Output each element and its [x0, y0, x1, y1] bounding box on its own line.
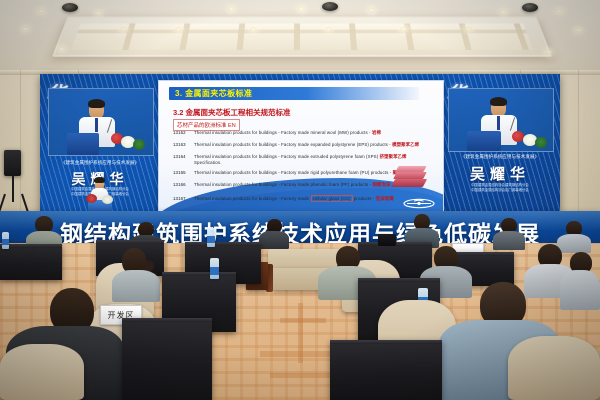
live-podium-inset-left	[78, 160, 122, 214]
bottle-label	[207, 236, 215, 243]
downlight-icon	[175, 27, 182, 31]
downlight-icon	[368, 8, 375, 12]
slide-row-code: 13163	[173, 142, 194, 148]
flower-arrangement	[535, 137, 547, 148]
podium	[67, 133, 99, 155]
speaker-photo-left	[48, 88, 154, 156]
table-top	[0, 244, 62, 248]
slide-row-code: 13167	[173, 196, 194, 202]
conference-table	[122, 318, 212, 400]
slide-row: 13162Thermal insulation products for bui…	[173, 130, 431, 136]
speaker-photo-right	[448, 88, 554, 152]
ceiling-coffer-inner	[71, 23, 533, 50]
podium	[467, 131, 501, 151]
led-right-panel: 华 《建筑金属围护系统应用与技术发展》 吴耀华 中国建筑金属结构协会建筑钢结构分…	[440, 74, 560, 214]
conference-hall-photo: 华 《建筑金属围护系统应用与技术发展》 吴耀华 中国建筑金属结构协会建筑钢结构分…	[0, 0, 600, 400]
slide-row-zh: 酚醛泡沫	[373, 182, 391, 187]
ceiling-coffer	[52, 17, 552, 57]
downlight-icon	[250, 27, 257, 31]
speaker-org-right: 中国建筑金属结构协会建筑钢结构分会	[440, 183, 560, 188]
downlight-icon	[38, 9, 45, 13]
stage-monitor-screen	[378, 234, 396, 246]
speaker-title-right: 《建筑金属围护系统应用与技术发展》	[440, 154, 560, 160]
presenter-hair	[94, 177, 105, 183]
speaker-hair	[88, 99, 105, 108]
sandwich-panel-sample-image	[393, 164, 429, 190]
slide-row-text: Thermal insulation products for building…	[194, 182, 371, 187]
water-bottle	[2, 232, 9, 249]
slide-row-text: Specification.	[194, 160, 222, 165]
led-left-panel: 华 《建筑金属围护系统应用与技术发展》 吴耀华 中国建筑金属结构协会建筑钢结构分…	[40, 74, 160, 214]
downlight-icon	[556, 9, 563, 13]
tripod-leg	[12, 176, 14, 202]
speaker-org-right-2: 中国建筑金属结构协会铝门窗幕墙分会	[440, 188, 560, 193]
slide-row-zh: 泡沫玻璃	[376, 196, 394, 201]
conference-table	[330, 340, 442, 400]
slide-row-boxed-term: cellular glass (CG)	[311, 195, 353, 202]
slide-row-text: Thermal insulation products for building…	[194, 196, 309, 201]
ceiling-speaker-icon	[62, 3, 78, 12]
slide-section-title: 3. 金属面夹芯板标准	[175, 88, 252, 99]
carpet-motif	[280, 318, 326, 323]
slide-row-zh: 模塑聚苯乙烯	[392, 142, 419, 147]
audience-member	[492, 218, 526, 248]
slide-row-text: Thermal insulation products for building…	[194, 170, 391, 175]
panel-layer-bottom	[391, 179, 427, 187]
ceiling-speaker-icon	[522, 3, 538, 12]
table-top	[96, 240, 164, 244]
downlight-icon	[575, 28, 582, 32]
person-body	[493, 231, 525, 250]
pa-speaker-box	[4, 150, 21, 176]
speaker-hair	[490, 97, 507, 106]
slide-row-code: 13164	[173, 154, 194, 160]
downlight-icon	[545, 50, 552, 54]
bottle-label	[2, 239, 9, 245]
ceiling-grid-pattern	[71, 23, 533, 50]
audience-chair	[508, 336, 600, 400]
water-bottle	[207, 228, 215, 247]
speaker-tie	[95, 118, 98, 132]
downlight-icon	[95, 11, 102, 15]
slide-row-code: 13166	[173, 182, 194, 188]
slide-row-code: 13165	[173, 170, 194, 176]
flower-arrangement	[102, 195, 113, 204]
table-top	[162, 272, 236, 276]
speaker-name-right: 吴耀华	[440, 163, 560, 184]
slide-row-highlighted: 13167Thermal insulation products for bui…	[173, 196, 431, 202]
slide-row: 13163Thermal insulation products for bui…	[173, 142, 431, 148]
person-body	[560, 270, 600, 310]
downlight-icon	[120, 27, 127, 31]
panel-layer-mid	[393, 172, 427, 179]
speaker-tie	[497, 116, 500, 130]
presentation-slide: 3. 金属面夹芯板标准 3.2 金属面夹芯板工程相关规范标准 芯材产品的欧洲标准…	[158, 80, 444, 213]
slide-section-titlebar: 3. 金属面夹芯板标准	[169, 87, 419, 100]
slide-row-zh: 挤塑聚苯乙烯	[380, 154, 407, 159]
downlight-icon	[298, 7, 305, 11]
water-bottle	[210, 258, 219, 279]
downlight-icon	[58, 47, 65, 51]
downlight-icon	[325, 27, 332, 31]
pa-speaker-stand	[2, 150, 28, 220]
downlight-icon	[22, 27, 29, 31]
slide-row-text: Thermal insulation products for building…	[194, 142, 391, 147]
ceiling	[0, 0, 600, 78]
conference-table	[0, 244, 62, 280]
downlight-icon	[400, 27, 407, 31]
audience-member	[258, 219, 290, 247]
slide-row: 13164Thermal insulation products for bui…	[173, 154, 431, 160]
flower-arrangement	[86, 194, 97, 203]
audience-member	[560, 252, 600, 308]
table-top	[358, 278, 440, 282]
carpet-motif	[270, 373, 332, 378]
flower-arrangement	[133, 139, 145, 150]
table-top	[185, 242, 261, 246]
slide-row-zh: 岩棉	[372, 130, 381, 135]
slide-row-code: 13162	[173, 130, 194, 136]
bottle-label	[210, 267, 219, 275]
slide-row-text: Thermal insulation products for building…	[194, 130, 371, 135]
ceiling-speaker-icon	[322, 2, 338, 11]
slide-row-text-after: products -	[354, 196, 375, 201]
table-top	[330, 340, 442, 344]
cecs-logo	[401, 197, 437, 209]
downlight-icon	[228, 7, 235, 11]
carpet-motif	[260, 351, 340, 357]
person-body	[259, 231, 289, 249]
slide-subsection-title: 3.2 金属面夹芯板工程相关规范标准	[173, 107, 291, 118]
audience-chair	[0, 344, 84, 400]
table-top	[122, 318, 212, 322]
downlight-icon	[465, 27, 472, 31]
downlight-icon	[500, 10, 507, 14]
slide-row-text: Thermal insulation products for building…	[194, 154, 378, 159]
